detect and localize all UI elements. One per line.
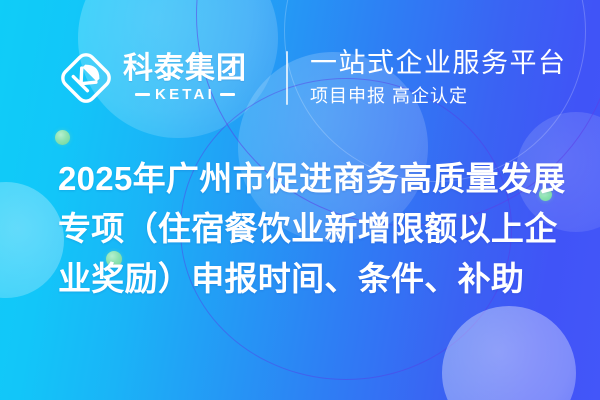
- logo-english-name: KETAI: [155, 87, 215, 102]
- circle-bottom-right: [442, 306, 576, 400]
- header-divider: [286, 51, 288, 105]
- promo-banner: 科泰集团 KETAI 一站式企业服务平台 项目申报 高企认定 2025年广州市促…: [0, 0, 600, 400]
- mint-dot-left-upper: [55, 130, 70, 145]
- page-title: 2025年广州市促进商务高质量发展 专项（住宿餐饮业新增限额以上企 业奖励）申报…: [58, 154, 558, 304]
- tagline-main: 一站式企业服务平台: [310, 48, 567, 79]
- logo-english-row: KETAI: [135, 87, 235, 102]
- headline-line-2: 专项（住宿餐饮业新增限额以上企: [58, 204, 558, 254]
- brand-logo[interactable]: 科泰集团 KETAI: [58, 50, 278, 106]
- logo-rule-right-icon: [220, 93, 235, 96]
- headline-line-1: 2025年广州市促进商务高质量发展: [58, 154, 558, 204]
- logo-chinese-name: 科泰集团: [123, 54, 247, 85]
- logo-rule-left-icon: [135, 93, 150, 96]
- circle-left-edge: [0, 182, 64, 298]
- logo-wordmark: 科泰集团 KETAI: [123, 54, 247, 103]
- tagline-sub: 项目申报 高企认定: [310, 86, 567, 108]
- ketai-diamond-k-logo-icon: [58, 50, 114, 106]
- banner-header: 科泰集团 KETAI 一站式企业服务平台 项目申报 高企认定: [0, 36, 600, 120]
- headline-line-3: 业奖励）申报时间、条件、补助: [58, 254, 558, 304]
- tagline: 一站式企业服务平台 项目申报 高企认定: [310, 48, 567, 108]
